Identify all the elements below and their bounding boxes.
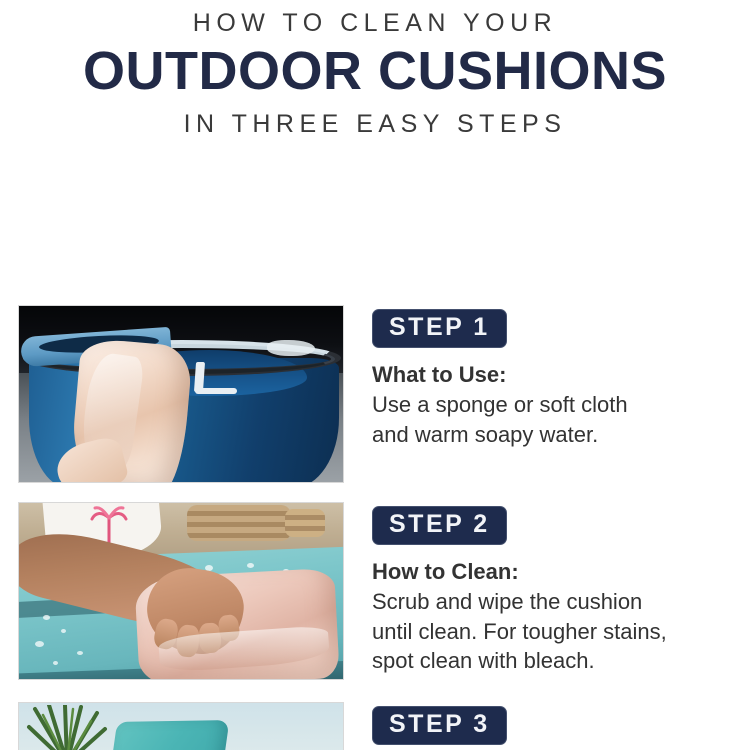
step-2-badge: STEP 2: [372, 506, 507, 545]
step-2-heading: How to Clean:: [372, 558, 750, 587]
step-1-badge: STEP 1: [372, 309, 507, 348]
bucket-notch-bar-icon: [195, 388, 237, 394]
step-3-text: STEP 3 How to Dry: Set out in sunshine a…: [372, 702, 750, 750]
step-1-photo: [18, 305, 344, 483]
step-1-body: Use a sponge or soft cloth and warm soap…: [372, 390, 750, 449]
step-1-text: STEP 1 What to Use: Use a sponge or soft…: [372, 305, 750, 449]
step-2-photo: [18, 502, 344, 680]
step-row: STEP 3 How to Dry: Set out in sunshine a…: [0, 702, 750, 750]
infographic-root: HOW TO CLEAN YOUR OUTDOOR CUSHIONS IN TH…: [0, 0, 750, 750]
step-2-body: Scrub and wipe the cushion until clean. …: [372, 587, 750, 675]
stacked-cushions-icon: [187, 505, 291, 541]
plant-icon: [25, 705, 109, 750]
header: HOW TO CLEAN YOUR OUTDOOR CUSHIONS IN TH…: [0, 0, 750, 140]
step-row: STEP 1 What to Use: Use a sponge or soft…: [0, 305, 750, 483]
header-kicker: HOW TO CLEAN YOUR: [0, 8, 750, 39]
step-3-photo: [18, 702, 344, 750]
step-2-text: STEP 2 How to Clean: Scrub and wipe the …: [372, 502, 750, 676]
step-row: STEP 2 How to Clean: Scrub and wipe the …: [0, 502, 750, 680]
stacked-cushions-secondary-icon: [285, 509, 325, 537]
step-1-heading: What to Use:: [372, 361, 750, 390]
bucket-spout-icon: [267, 340, 315, 356]
step-3-badge: STEP 3: [372, 706, 507, 745]
chaise-backrest-cushion-icon: [101, 720, 230, 750]
header-subkicker: IN THREE EASY STEPS: [0, 108, 750, 141]
page-title: OUTDOOR CUSHIONS: [0, 41, 750, 101]
